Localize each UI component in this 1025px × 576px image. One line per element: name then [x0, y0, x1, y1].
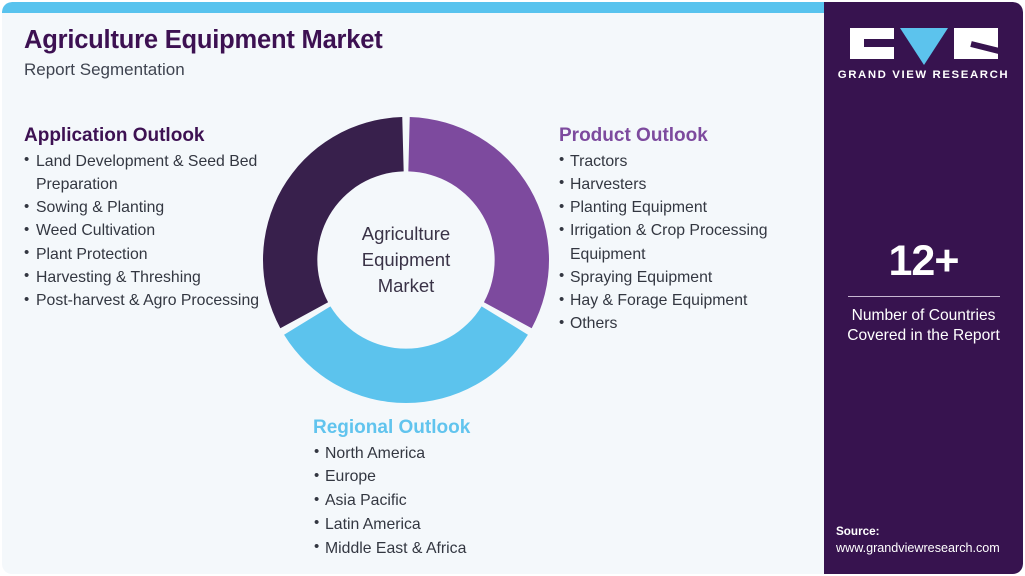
- brand-logo: GRAND VIEW RESEARCH: [824, 28, 1023, 81]
- list-item: North America: [307, 442, 567, 466]
- list-item: Middle East & Africa: [307, 537, 567, 561]
- application-outlook-heading: Application Outlook: [24, 124, 276, 148]
- list-item: Tractors: [559, 150, 821, 173]
- sidebar-panel: GRAND VIEW RESEARCH 12+ Number of Countr…: [824, 2, 1023, 574]
- list-item: Plant Protection: [24, 243, 276, 266]
- stat-label-line-2: Covered in the Report: [824, 326, 1023, 346]
- list-item: Latin America: [307, 513, 567, 537]
- list-item: Planting Equipment: [559, 196, 821, 219]
- product-outlook-block: Product Outlook Tractors Harvesters Plan…: [559, 124, 821, 336]
- logo-r-icon: [954, 28, 998, 59]
- logo-marks: [824, 28, 1023, 60]
- source-block: Source: www.grandviewresearch.com: [836, 523, 1023, 558]
- list-item: Post-harvest & Agro Processing: [24, 289, 276, 312]
- donut-segment-product-outlook: [408, 117, 549, 328]
- stat-divider: [848, 296, 1000, 297]
- countries-stat-block: 12+ Number of Countries Covered in the R…: [824, 240, 1023, 346]
- application-outlook-list: Land Development & Seed Bed Preparation …: [24, 150, 276, 313]
- list-item: Land Development & Seed Bed Preparation: [24, 150, 276, 196]
- infographic-card: Agriculture Equipment Market Report Segm…: [2, 2, 1023, 574]
- stat-label-line-1: Number of Countries: [824, 306, 1023, 326]
- stat-value: 12+: [824, 240, 1023, 283]
- logo-g-icon: [850, 28, 894, 59]
- list-item: Spraying Equipment: [559, 266, 821, 289]
- application-outlook-block: Application Outlook Land Development & S…: [24, 124, 276, 312]
- header: Agriculture Equipment Market Report Segm…: [24, 26, 664, 81]
- list-item: Europe: [307, 465, 567, 489]
- donut-chart-svg: [260, 114, 552, 406]
- product-outlook-heading: Product Outlook: [559, 124, 821, 148]
- regional-outlook-list: North America Europe Asia Pacific Latin …: [307, 442, 567, 560]
- list-item: Harvesting & Threshing: [24, 266, 276, 289]
- regional-outlook-block: Regional Outlook North America Europe As…: [307, 416, 567, 560]
- list-item: Asia Pacific: [307, 489, 567, 513]
- donut-segment-application-outlook: [263, 117, 404, 328]
- page-title: Agriculture Equipment Market: [24, 26, 664, 55]
- stat-label: Number of Countries Covered in the Repor…: [824, 306, 1023, 346]
- source-url[interactable]: www.grandviewresearch.com: [836, 540, 1023, 558]
- product-outlook-list: Tractors Harvesters Planting Equipment I…: [559, 150, 821, 336]
- logo-wordmark: GRAND VIEW RESEARCH: [824, 69, 1023, 81]
- list-item: Hay & Forage Equipment: [559, 289, 821, 312]
- regional-outlook-heading: Regional Outlook: [313, 416, 567, 440]
- logo-v-triangle-icon: [900, 28, 948, 65]
- list-item: Weed Cultivation: [24, 219, 276, 242]
- list-item: Sowing & Planting: [24, 196, 276, 219]
- source-title: Source:: [836, 523, 1023, 541]
- top-accent-bar: [2, 2, 824, 13]
- donut-segment-regional-outlook: [284, 306, 528, 403]
- page-subtitle: Report Segmentation: [24, 60, 664, 80]
- list-item: Irrigation & Crop Processing Equipment: [559, 219, 821, 265]
- infographic-root: Agriculture Equipment Market Report Segm…: [0, 0, 1025, 576]
- list-item: Others: [559, 312, 821, 335]
- donut-chart: Agriculture Equipment Market: [260, 114, 552, 406]
- list-item: Harvesters: [559, 173, 821, 196]
